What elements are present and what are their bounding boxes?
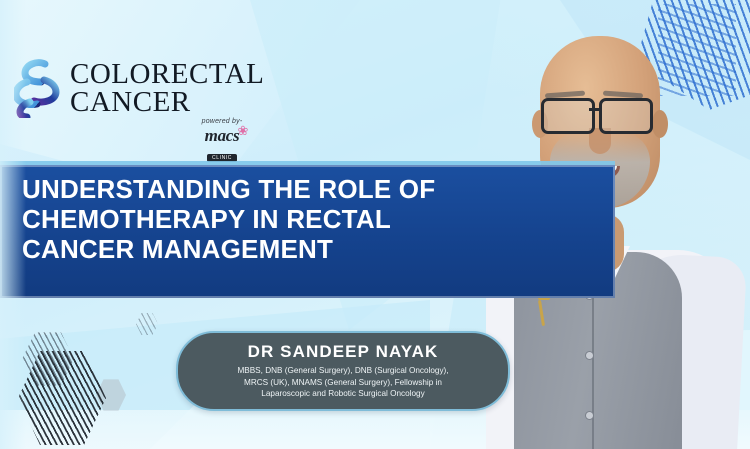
speaker-credentials-line-3: Laparoscopic and Robotic Surgical Oncolo… [193, 388, 493, 400]
speaker-credentials-line-2: MRCS (UK), MNAMS (General Surgery), Fell… [193, 377, 493, 389]
ear [652, 110, 668, 138]
partner-name: macs [205, 126, 240, 145]
speaker-card: DR SANDEEP NAYAK MBBS, DNB (General Surg… [176, 331, 510, 411]
page-title: UNDERSTANDING THE ROLE OF CHEMOTHERAPY I… [22, 174, 582, 264]
vest-button [586, 352, 593, 359]
brand-lockup: COLORECTAL CANCER [14, 58, 264, 118]
brand-name-line2: CANCER [70, 89, 264, 117]
title-line-3: CANCER MANAGEMENT [22, 234, 582, 264]
powered-by-block: powered by- macs ❀ CLINIC [186, 118, 258, 164]
title-line-1: UNDERSTANDING THE ROLE OF [22, 174, 582, 204]
vest-button [586, 412, 593, 419]
title-line-2: CHEMOTHERAPY IN RECTAL [22, 204, 582, 234]
partner-logo: macs ❀ [205, 126, 240, 146]
left-edge-vignette [0, 0, 26, 449]
brand-name-line1: COLORECTAL [70, 61, 264, 89]
eyeglasses-icon [599, 98, 653, 134]
speaker-credentials-line-1: MBBS, DNB (General Surgery), DNB (Surgic… [193, 365, 493, 377]
eyeglasses-icon [541, 98, 595, 134]
speaker-name: DR SANDEEP NAYAK [248, 342, 439, 362]
flower-icon: ❀ [237, 123, 248, 139]
slide-canvas: COLORECTAL CANCER powered by- macs ❀ CLI… [0, 0, 750, 449]
eyeglasses-bridge [589, 108, 599, 111]
hexagon-pattern-decoration [136, 312, 158, 336]
